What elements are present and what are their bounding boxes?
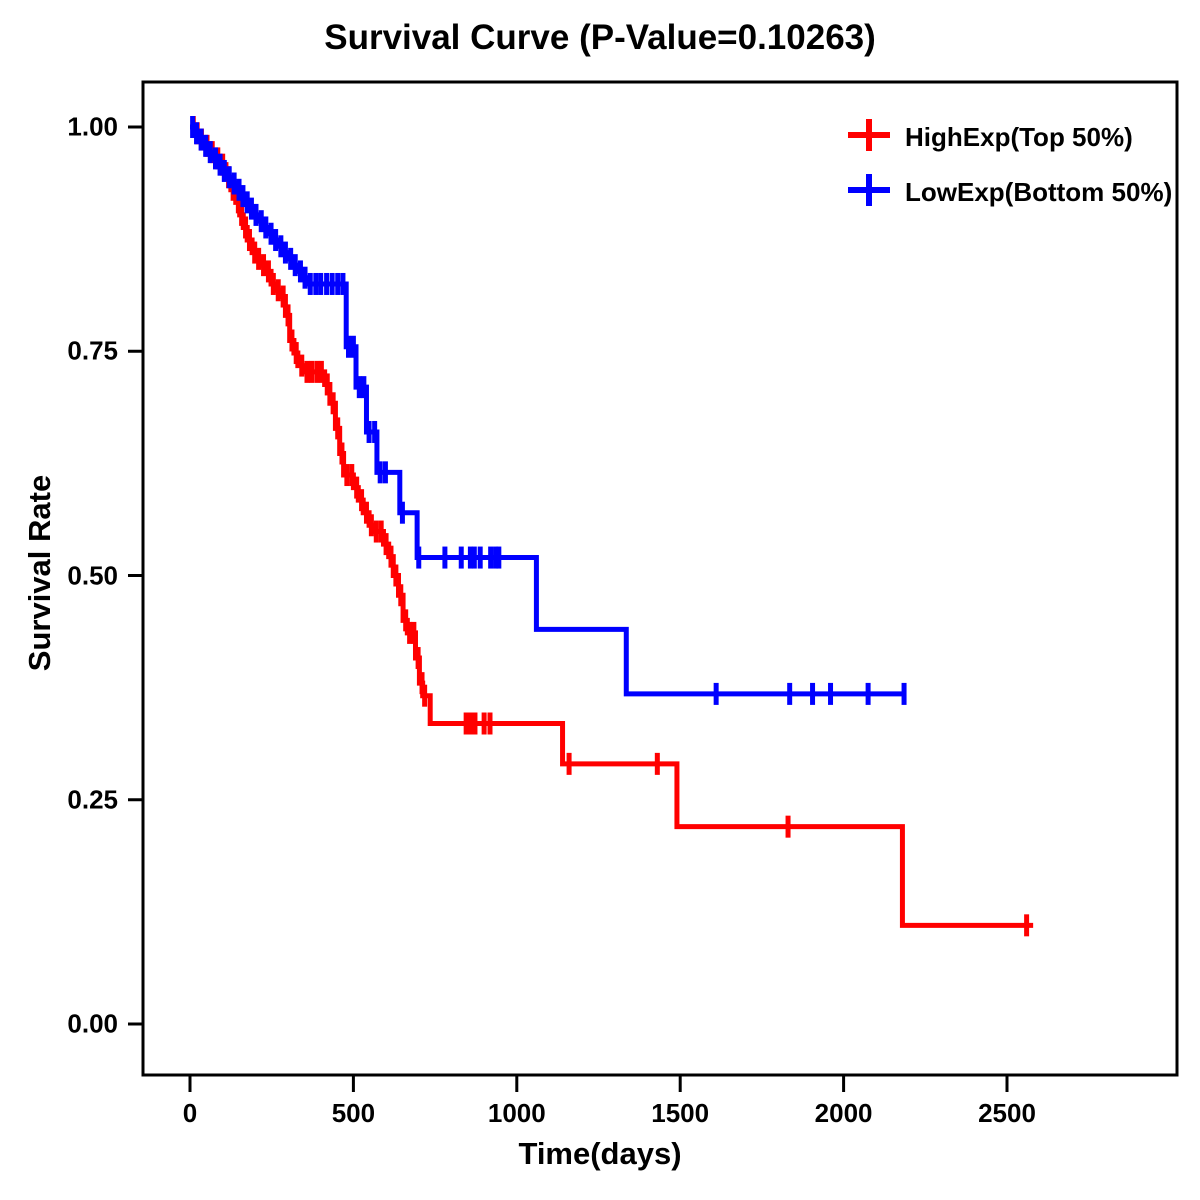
x-axis-title: Time(days) (0, 1136, 1200, 1172)
y-axis-title: Survival Rate (22, 403, 58, 743)
x-tick-label: 1500 (651, 1098, 709, 1129)
survival-step-line (190, 127, 904, 694)
y-tick-label: 1.00 (0, 112, 118, 143)
x-tick-label: 2000 (815, 1098, 873, 1129)
y-tick-label: 0.75 (0, 336, 118, 367)
x-tick-label: 1000 (488, 1098, 546, 1129)
x-tick-label: 0 (183, 1098, 197, 1129)
legend-markers (848, 119, 890, 206)
x-axis-ticks (190, 1075, 1007, 1092)
y-tick-label: 0.25 (0, 784, 118, 815)
series-layer (190, 116, 1033, 936)
y-tick-label: 0.00 (0, 1009, 118, 1040)
x-tick-label: 500 (332, 1098, 375, 1129)
legend-item-high-exp[interactable]: HighExp(Top 50%) (905, 122, 1133, 153)
y-tick-label: 0.50 (0, 560, 118, 591)
y-axis-ticks (128, 127, 143, 1024)
censor-marks (193, 116, 1026, 936)
survival-chart-page: Survival Curve (P-Value=0.10263) 0.000.2… (0, 0, 1200, 1200)
legend-item-low-exp[interactable]: LowExp(Bottom 50%) (905, 177, 1172, 208)
x-tick-label: 2500 (978, 1098, 1036, 1129)
survival-step-line (190, 127, 1033, 925)
censor-marks (193, 116, 904, 705)
